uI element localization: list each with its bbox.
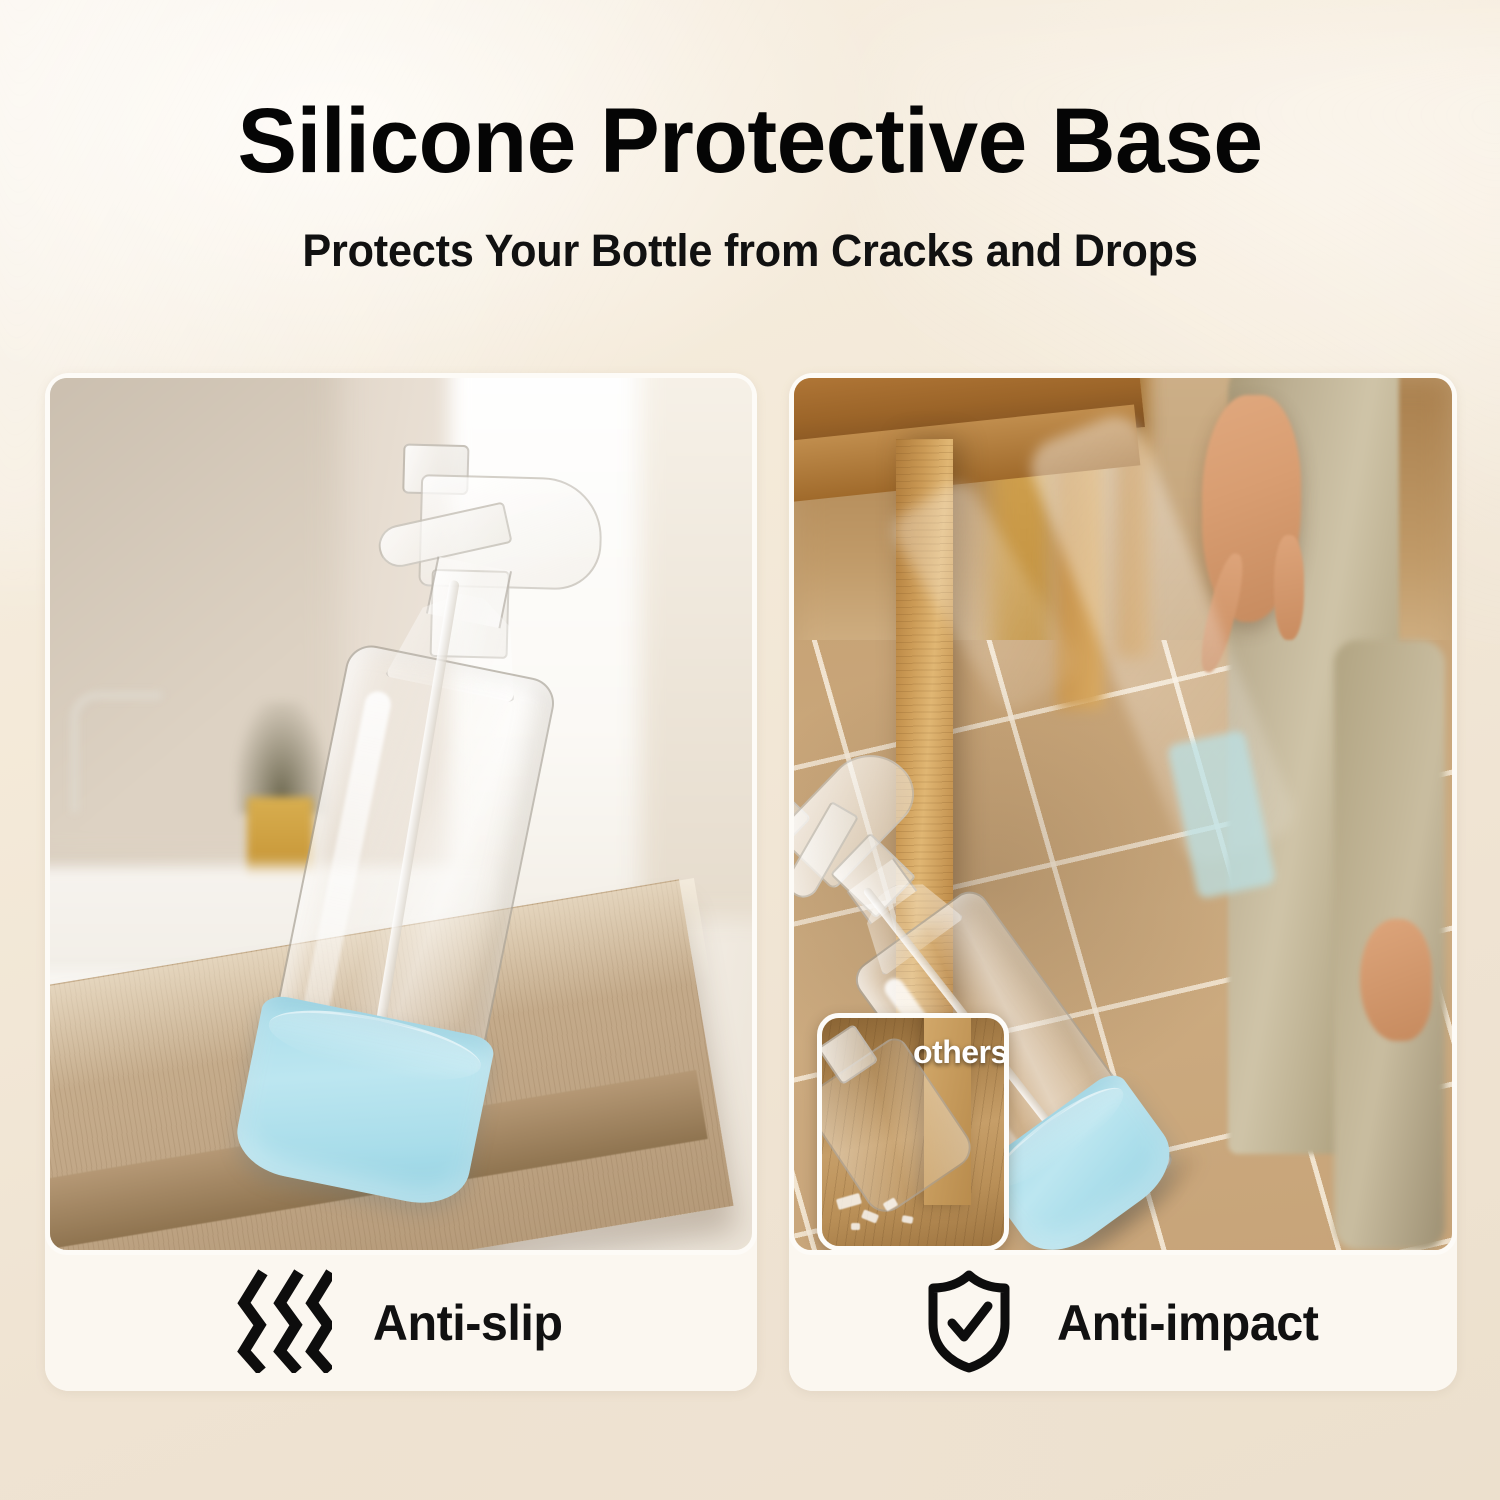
feature-card-anti-slip: Anti-slip [45, 373, 757, 1391]
faucet-blur [71, 692, 162, 812]
person-foot [1360, 919, 1432, 1041]
caption-bar-anti-impact: Anti-impact [789, 1255, 1457, 1391]
photo-anti-impact: others [789, 373, 1457, 1255]
poster-background: Silicone Protective Base Protects Your B… [0, 0, 1500, 1500]
shield-check-icon [923, 1268, 1015, 1379]
inset-label-others: others [913, 1034, 1008, 1071]
caption-bar-anti-slip: Anti-slip [45, 1255, 757, 1391]
feature-card-anti-impact: others Anti-impact [789, 373, 1457, 1391]
zigzag-waves-icon [236, 1269, 332, 1378]
caption-label-anti-impact: Anti-impact [1057, 1294, 1318, 1352]
caption-label-anti-slip: Anti-slip [373, 1294, 563, 1352]
person-finger [1274, 535, 1304, 640]
inset-others-comparison: others [817, 1013, 1009, 1251]
page-title: Silicone Protective Base [23, 95, 1478, 187]
inset-glass-shard [851, 1223, 860, 1230]
photo-anti-slip [45, 373, 757, 1255]
page-subtitle: Protects Your Bottle from Cracks and Dro… [30, 228, 1470, 273]
window-light-secondary [640, 373, 757, 919]
